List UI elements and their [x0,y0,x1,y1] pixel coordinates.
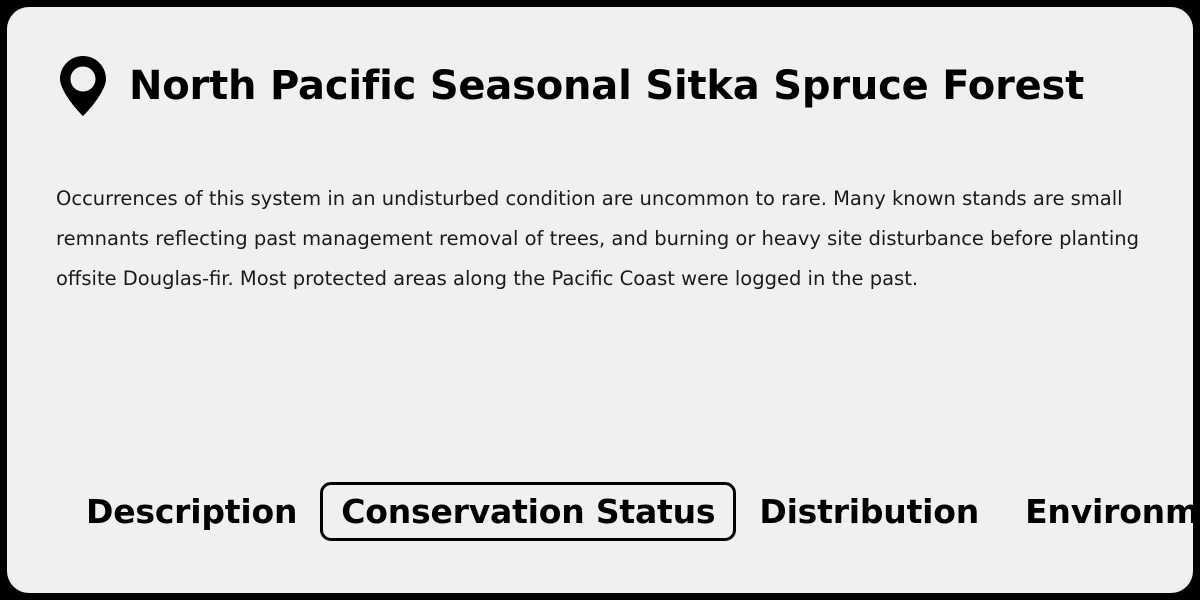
description-text: Occurrences of this system in an undistu… [56,179,1166,299]
tab-bar: Description Conservation Status Distribu… [63,482,1193,541]
tab-description[interactable]: Description [63,482,320,541]
page-title: North Pacific Seasonal Sitka Spruce Fore… [129,65,1084,107]
tab-environment[interactable]: Environment [1002,482,1193,541]
page-header: North Pacific Seasonal Sitka Spruce Fore… [59,55,1084,117]
content-card: North Pacific Seasonal Sitka Spruce Fore… [7,7,1193,593]
tab-distribution[interactable]: Distribution [736,482,1002,541]
window-frame: North Pacific Seasonal Sitka Spruce Fore… [0,0,1200,600]
tab-conservation-status[interactable]: Conservation Status [320,482,736,541]
map-pin-icon [59,55,107,117]
